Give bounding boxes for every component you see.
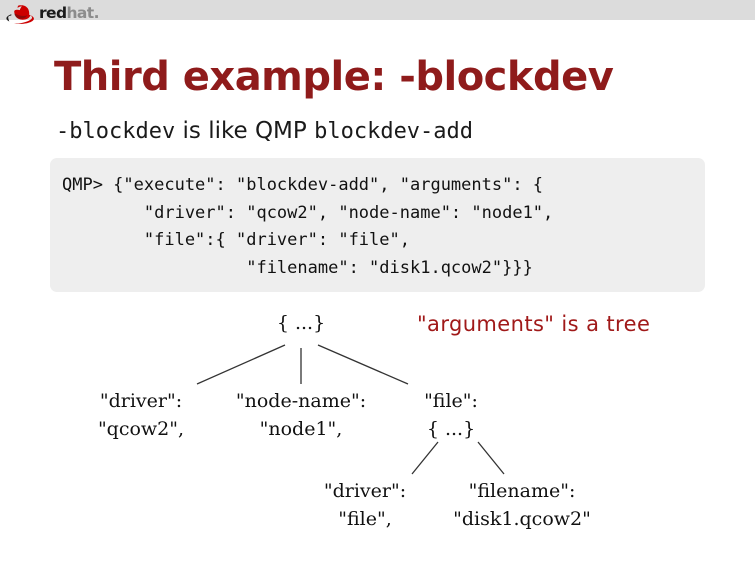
tree-node-root-line1: { ...} [246, 310, 356, 338]
tree-node-driver-key: "driver": [76, 388, 206, 416]
tree-node-file-key: "file": [396, 388, 506, 416]
tree-node-sub-driver-value: "file", [300, 506, 430, 534]
tree-node-driver-value: "qcow2", [76, 416, 206, 444]
tree-node-node-name: "node-name": "node1", [216, 388, 386, 443]
page-title: Third example: -blockdev [54, 56, 613, 98]
redhat-wordmark: redhat. [39, 6, 99, 22]
subtitle-part-blockdev-add: blockdev-add [314, 119, 473, 144]
logo-word-hat: hat [66, 4, 93, 22]
tree-node-sub-driver: "driver": "file", [300, 478, 430, 533]
json-tree-diagram: { ...} "driver": "qcow2", "node-name": "… [0, 300, 755, 566]
tree-node-driver: "driver": "qcow2", [76, 388, 206, 443]
slide-subtitle: -blockdev is like QMP blockdev-add [56, 117, 473, 144]
tree-node-file-value: { ...} [396, 416, 506, 444]
tree-node-sub-driver-key: "driver": [300, 478, 430, 506]
tree-annotation: "arguments" is a tree [417, 312, 650, 336]
subtitle-part-blockdev: -blockdev [56, 119, 175, 144]
code-block: QMP> {"execute": "blockdev-add", "argume… [50, 158, 705, 292]
tree-node-filename-value: "disk1.qcow2" [432, 506, 612, 534]
redhat-shadowman-icon [4, 2, 38, 26]
tree-node-node-name-key: "node-name": [216, 388, 386, 416]
tree-node-filename: "filename": "disk1.qcow2" [432, 478, 612, 533]
subtitle-part-islike: is like QMP [175, 118, 314, 144]
tree-node-filename-key: "filename": [432, 478, 612, 506]
tree-node-node-name-value: "node1", [216, 416, 386, 444]
logo-word-red: red [39, 4, 66, 22]
logo-word-dot: . [94, 4, 99, 22]
tree-node-file: "file": { ...} [396, 388, 506, 443]
redhat-logo: redhat. [4, 1, 99, 27]
header-bar [0, 0, 755, 20]
code-block-text: QMP> {"execute": "blockdev-add", "argume… [62, 172, 705, 282]
tree-node-root: { ...} [246, 310, 356, 338]
